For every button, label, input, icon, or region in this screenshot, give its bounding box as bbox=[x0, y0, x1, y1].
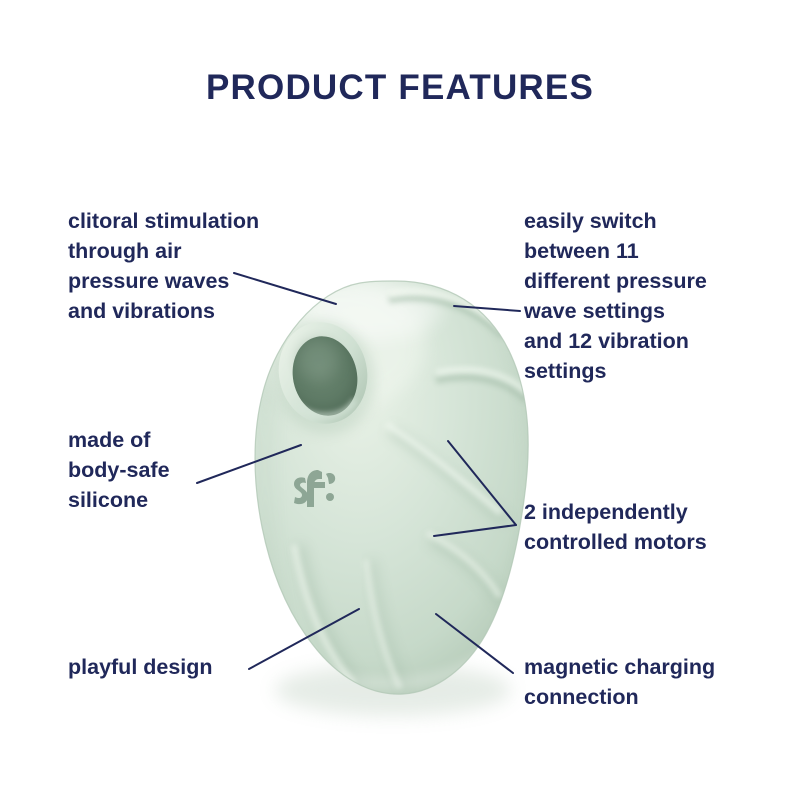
feature-label-clitoral-stimulation: clitoral stimulation through air pressur… bbox=[68, 206, 259, 326]
feature-label-playful-design: playful design bbox=[68, 652, 213, 682]
feature-label-magnetic-charging: magnetic charging connection bbox=[524, 652, 715, 712]
feature-label-pressure-wave-settings: easily switch between 11 different press… bbox=[524, 206, 707, 386]
feature-label-independent-motors: 2 independently controlled motors bbox=[524, 497, 707, 557]
product-features-diagram: PRODUCT FEATURES bbox=[0, 0, 800, 800]
feature-label-body-safe-silicone: made of body-safe silicone bbox=[68, 425, 170, 515]
